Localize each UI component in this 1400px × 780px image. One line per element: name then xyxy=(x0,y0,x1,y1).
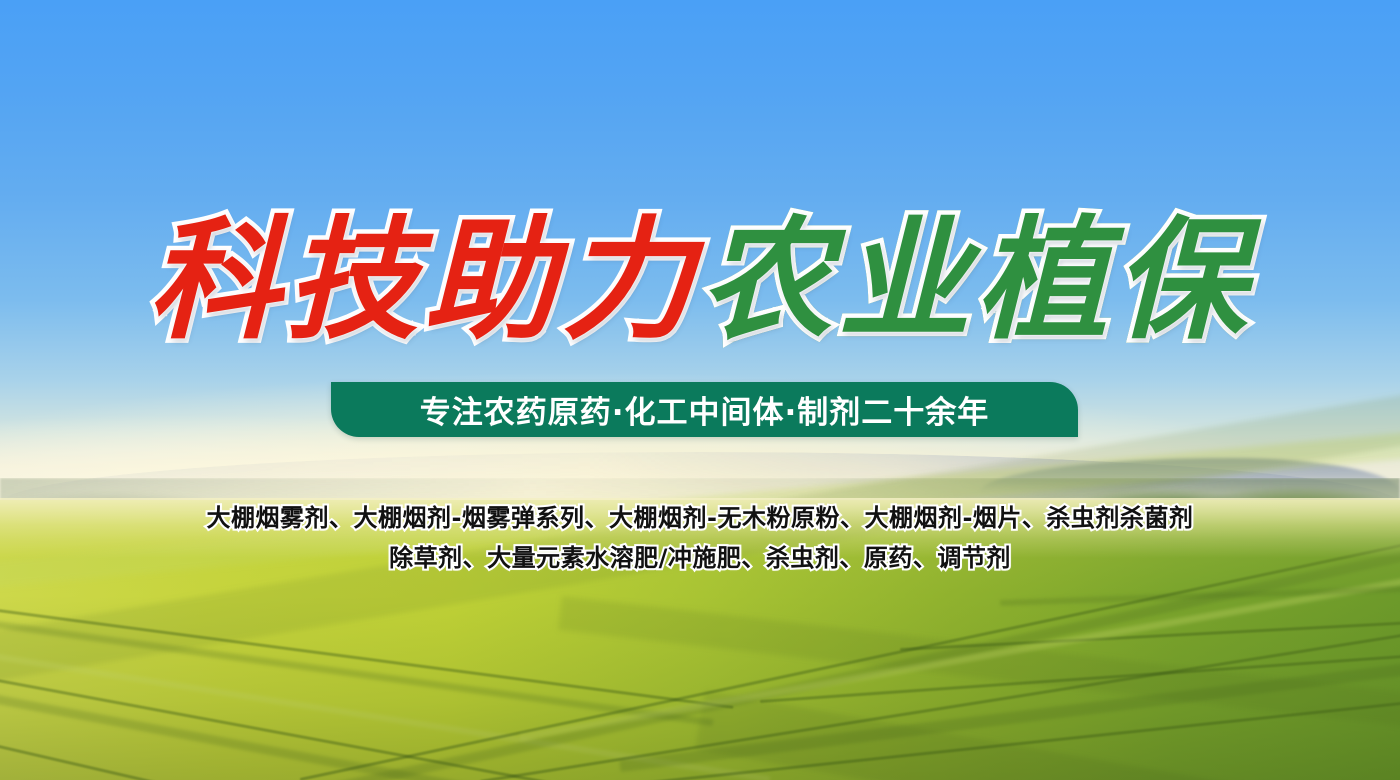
title-red-part: 科技助力 xyxy=(148,206,700,356)
subtitle-pill: 专注农药原药·化工中间体·制剂二十余年 xyxy=(331,382,1078,437)
title-green-part: 农业植保 xyxy=(700,206,1252,356)
promo-banner: 科技助力农业植保 专注农药原药·化工中间体·制剂二十余年 大棚烟雾剂、大棚烟剂-… xyxy=(0,0,1400,780)
product-line: 大棚烟雾剂、大棚烟剂-烟雾弹系列、大棚烟剂-无木粉原粉、大棚烟剂-烟片、杀虫剂杀… xyxy=(0,498,1400,538)
product-list: 大棚烟雾剂、大棚烟剂-烟雾弹系列、大棚烟剂-无木粉原粉、大棚烟剂-烟片、杀虫剂杀… xyxy=(0,498,1400,578)
subtitle-text: 专注农药原药·化工中间体·制剂二十余年 xyxy=(331,382,1078,437)
product-line: 除草剂、大量元素水溶肥/冲施肥、杀虫剂、原药、调节剂 xyxy=(0,538,1400,578)
banner-title: 科技助力农业植保 xyxy=(0,206,1400,356)
